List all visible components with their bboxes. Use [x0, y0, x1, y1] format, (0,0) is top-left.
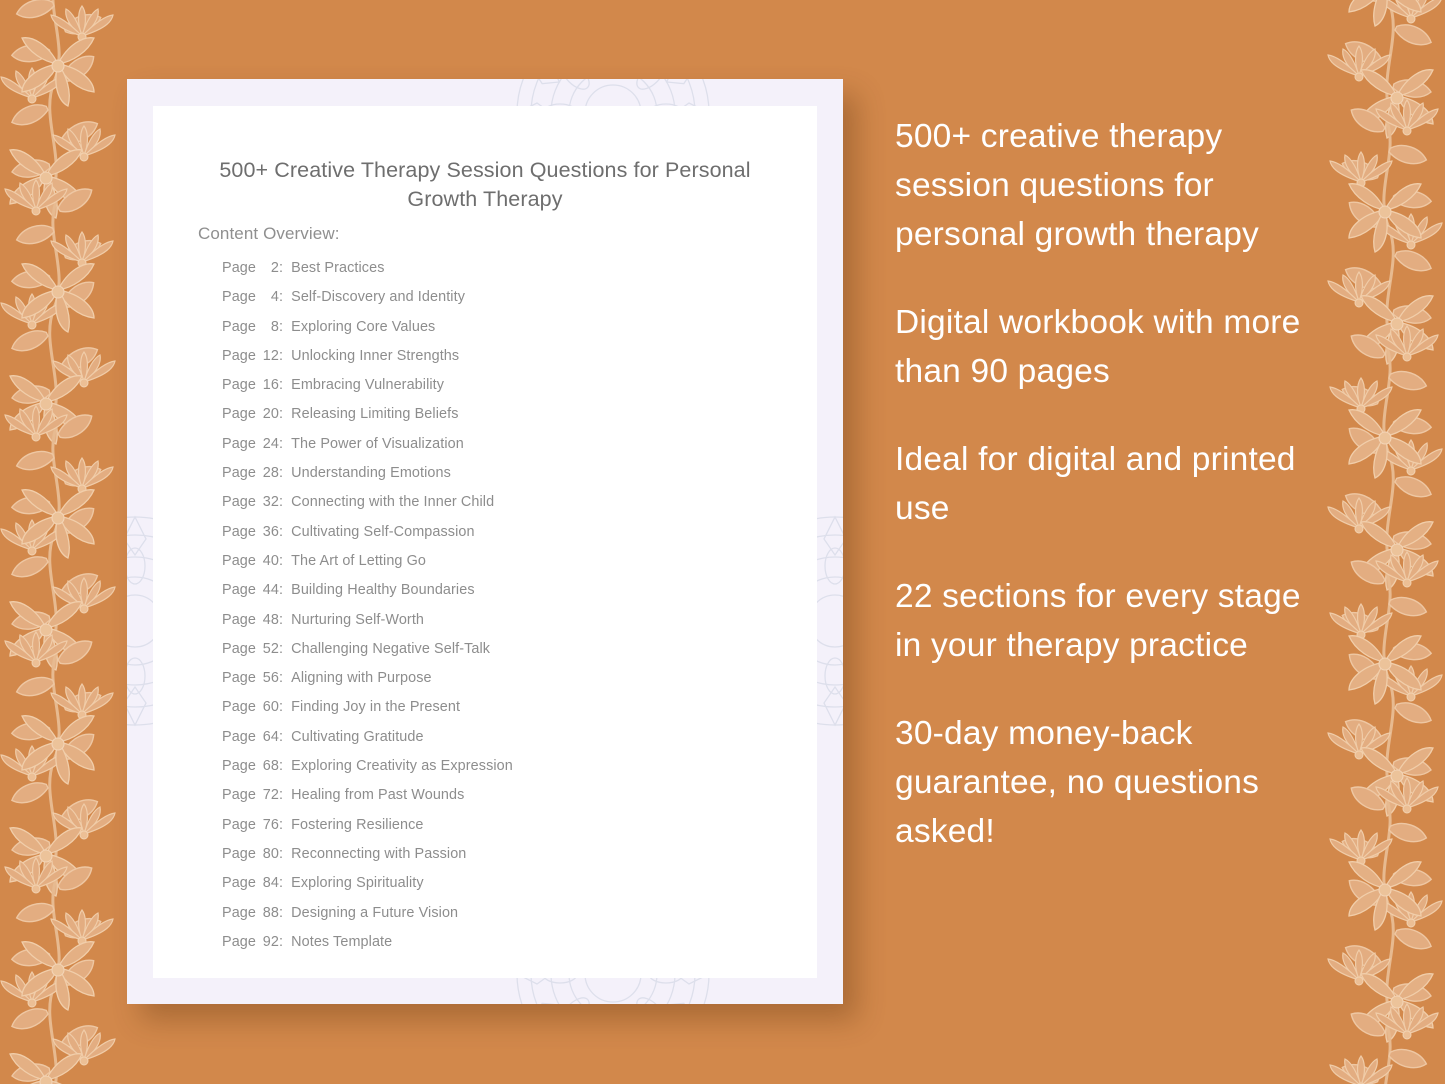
toc-page-word: Page — [222, 494, 256, 510]
toc-topic: Reconnecting with Passion — [291, 846, 466, 862]
toc-topic: Best Practices — [291, 260, 384, 276]
toc-topic: The Art of Letting Go — [291, 553, 426, 569]
toc-page-word: Page — [222, 436, 256, 452]
toc-page-word: Page — [222, 905, 256, 921]
toc-page-word: Page — [222, 348, 256, 364]
toc-page-number: 88 — [260, 905, 279, 921]
toc-page-word: Page — [222, 524, 256, 540]
toc-page-word: Page — [222, 553, 256, 569]
toc-page-number: 68 — [260, 758, 279, 774]
toc-page-number: 40 — [260, 553, 279, 569]
toc-row: Page36:Cultivating Self-Compassion — [222, 524, 802, 553]
toc-separator: : — [279, 905, 283, 921]
toc-page-number: 28 — [260, 465, 279, 481]
toc-topic: Connecting with the Inner Child — [291, 494, 494, 510]
toc-page-number: 80 — [260, 846, 279, 862]
toc-row: Page24:The Power of Visualization — [222, 436, 802, 465]
toc-page-word: Page — [222, 260, 256, 276]
toc-row: Page72:Healing from Past Wounds — [222, 787, 802, 816]
toc-separator: : — [279, 348, 283, 364]
toc-page-number: 64 — [260, 729, 279, 745]
toc-separator: : — [279, 553, 283, 569]
toc-row: Page4:Self-Discovery and Identity — [222, 289, 802, 318]
toc-page-word: Page — [222, 817, 256, 833]
marketing-copy-column: 500+ creative therapy session questions … — [895, 112, 1325, 856]
toc-topic: Healing from Past Wounds — [291, 787, 464, 803]
toc-topic: Unlocking Inner Strengths — [291, 348, 459, 364]
toc-row: Page52:Challenging Negative Self-Talk — [222, 641, 802, 670]
marketing-bullet: 30-day money-back guarantee, no question… — [895, 709, 1325, 856]
toc-separator: : — [279, 612, 283, 628]
toc-page-number: 4 — [260, 289, 279, 305]
toc-page-number: 16 — [260, 377, 279, 393]
toc-topic: Releasing Limiting Beliefs — [291, 406, 458, 422]
toc-separator: : — [279, 729, 283, 745]
toc-row: Page8:Exploring Core Values — [222, 319, 802, 348]
toc-page-number: 2 — [260, 260, 279, 276]
toc-page-word: Page — [222, 758, 256, 774]
toc-page-number: 76 — [260, 817, 279, 833]
toc-topic: Fostering Resilience — [291, 817, 423, 833]
toc-topic: Cultivating Gratitude — [291, 729, 423, 745]
toc-row: Page12:Unlocking Inner Strengths — [222, 348, 802, 377]
table-of-contents-list: Page2:Best PracticesPage4:Self-Discovery… — [222, 260, 802, 963]
toc-separator: : — [279, 758, 283, 774]
toc-row: Page40:The Art of Letting Go — [222, 553, 802, 582]
toc-row: Page64:Cultivating Gratitude — [222, 729, 802, 758]
toc-topic: Designing a Future Vision — [291, 905, 458, 921]
toc-page-number: 48 — [260, 612, 279, 628]
toc-separator: : — [279, 817, 283, 833]
toc-topic: The Power of Visualization — [291, 436, 464, 452]
toc-separator: : — [279, 641, 283, 657]
floral-vine-icon — [1317, 0, 1445, 1084]
toc-page-word: Page — [222, 934, 256, 950]
toc-page-word: Page — [222, 699, 256, 715]
toc-separator: : — [279, 846, 283, 862]
toc-page-word: Page — [222, 319, 256, 335]
toc-separator: : — [279, 699, 283, 715]
floral-border-right — [1317, 0, 1445, 1084]
toc-page-word: Page — [222, 670, 256, 686]
toc-page-number: 24 — [260, 436, 279, 452]
marketing-bullet: Digital workbook with more than 90 pages — [895, 298, 1325, 396]
toc-page-word: Page — [222, 641, 256, 657]
toc-row: Page60:Finding Joy in the Present — [222, 699, 802, 728]
toc-page-number: 60 — [260, 699, 279, 715]
toc-row: Page56:Aligning with Purpose — [222, 670, 802, 699]
toc-row: Page68:Exploring Creativity as Expressio… — [222, 758, 802, 787]
toc-topic: Nurturing Self-Worth — [291, 612, 424, 628]
content-overview-label: Content Overview: — [198, 224, 340, 244]
product-preview-card: 500+ Creative Therapy Session Questions … — [127, 79, 843, 1004]
toc-separator: : — [279, 406, 283, 422]
toc-topic: Aligning with Purpose — [291, 670, 432, 686]
toc-page-number: 52 — [260, 641, 279, 657]
toc-page-number: 32 — [260, 494, 279, 510]
toc-topic: Notes Template — [291, 934, 392, 950]
toc-topic: Challenging Negative Self-Talk — [291, 641, 490, 657]
toc-page-number: 12 — [260, 348, 279, 364]
toc-topic: Finding Joy in the Present — [291, 699, 460, 715]
toc-page-number: 44 — [260, 582, 279, 598]
marketing-bullet: 22 sections for every stage in your ther… — [895, 572, 1325, 670]
toc-row: Page88:Designing a Future Vision — [222, 905, 802, 934]
toc-separator: : — [279, 524, 283, 540]
toc-topic: Embracing Vulnerability — [291, 377, 444, 393]
toc-separator: : — [279, 260, 283, 276]
toc-page-number: 72 — [260, 787, 279, 803]
toc-separator: : — [279, 875, 283, 891]
toc-topic: Exploring Core Values — [291, 319, 435, 335]
toc-separator: : — [279, 289, 283, 305]
toc-row: Page80:Reconnecting with Passion — [222, 846, 802, 875]
toc-row: Page44:Building Healthy Boundaries — [222, 582, 802, 611]
toc-page-number: 20 — [260, 406, 279, 422]
toc-separator: : — [279, 377, 283, 393]
marketing-bullet: Ideal for digital and printed use — [895, 435, 1325, 533]
toc-page-word: Page — [222, 465, 256, 481]
toc-page-word: Page — [222, 875, 256, 891]
toc-page-word: Page — [222, 406, 256, 422]
toc-topic: Self-Discovery and Identity — [291, 289, 465, 305]
toc-row: Page84:Exploring Spirituality — [222, 875, 802, 904]
toc-separator: : — [279, 319, 283, 335]
toc-separator: : — [279, 465, 283, 481]
toc-topic: Exploring Creativity as Expression — [291, 758, 513, 774]
toc-page-word: Page — [222, 846, 256, 862]
toc-row: Page20:Releasing Limiting Beliefs — [222, 406, 802, 435]
toc-row: Page92:Notes Template — [222, 934, 802, 963]
marketing-bullet: 500+ creative therapy session questions … — [895, 112, 1325, 259]
floral-border-left — [0, 0, 126, 1084]
toc-page-word: Page — [222, 289, 256, 305]
toc-separator: : — [279, 670, 283, 686]
workbook-page-preview: 500+ Creative Therapy Session Questions … — [153, 106, 817, 978]
toc-topic: Understanding Emotions — [291, 465, 451, 481]
toc-page-number: 8 — [260, 319, 279, 335]
toc-separator: : — [279, 787, 283, 803]
toc-topic: Cultivating Self-Compassion — [291, 524, 474, 540]
toc-page-number: 92 — [260, 934, 279, 950]
toc-separator: : — [279, 436, 283, 452]
toc-separator: : — [279, 494, 283, 510]
toc-page-word: Page — [222, 612, 256, 628]
toc-separator: : — [279, 582, 283, 598]
toc-row: Page16:Embracing Vulnerability — [222, 377, 802, 406]
toc-page-word: Page — [222, 582, 256, 598]
toc-page-word: Page — [222, 377, 256, 393]
toc-topic: Building Healthy Boundaries — [291, 582, 475, 598]
promo-graphic: 500+ Creative Therapy Session Questions … — [0, 0, 1445, 1084]
toc-page-number: 36 — [260, 524, 279, 540]
toc-row: Page48:Nurturing Self-Worth — [222, 612, 802, 641]
toc-separator: : — [279, 934, 283, 950]
floral-vine-icon — [0, 0, 126, 1084]
toc-row: Page76:Fostering Resilience — [222, 817, 802, 846]
toc-row: Page28:Understanding Emotions — [222, 465, 802, 494]
toc-page-number: 84 — [260, 875, 279, 891]
toc-page-number: 56 — [260, 670, 279, 686]
toc-row: Page2:Best Practices — [222, 260, 802, 289]
toc-topic: Exploring Spirituality — [291, 875, 424, 891]
page-title: 500+ Creative Therapy Session Questions … — [153, 156, 817, 214]
toc-page-word: Page — [222, 729, 256, 745]
toc-row: Page32:Connecting with the Inner Child — [222, 494, 802, 523]
toc-page-word: Page — [222, 787, 256, 803]
